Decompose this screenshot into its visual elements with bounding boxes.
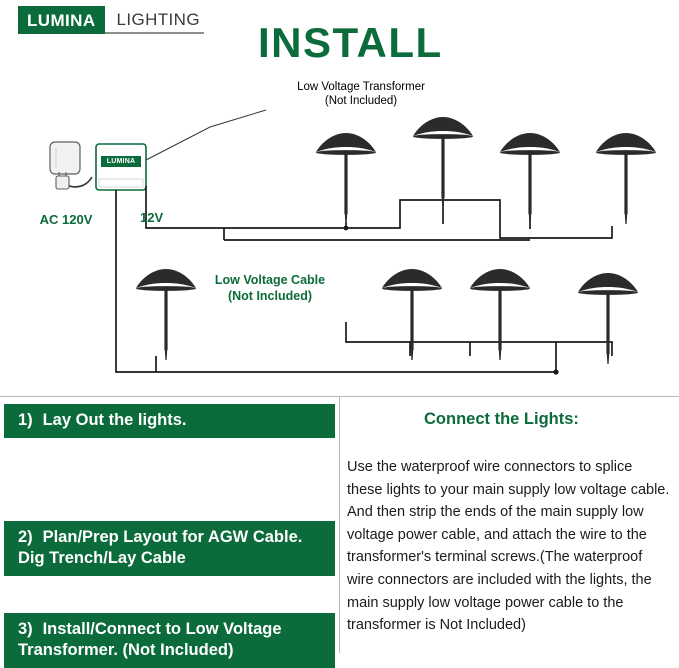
light-fixture	[413, 117, 473, 208]
step-text-1: Lay Out the lights.	[43, 411, 187, 429]
transformer-caption-line1: Low Voltage Transformer	[262, 80, 460, 94]
cable-caption-line2: (Not Included)	[180, 289, 360, 305]
step-number-1: 1)	[18, 410, 38, 431]
step-number-3: 3)	[18, 619, 38, 640]
diagram-svg	[0, 0, 679, 396]
transformer-caption: Low Voltage Transformer (Not Included)	[262, 80, 460, 109]
step-number-2: 2)	[18, 527, 38, 548]
wall-outlet-icon	[50, 142, 92, 189]
installation-diagram: LUMINA Low Voltage Transformer (Not Incl…	[0, 0, 679, 396]
light-fixture	[382, 269, 442, 360]
cable-caption-line1: Low Voltage Cable	[180, 273, 360, 289]
output-voltage-label: 12V	[140, 210, 180, 226]
light-fixture	[500, 133, 560, 224]
light-fixture	[470, 269, 530, 360]
light-fixture	[596, 133, 656, 224]
vertical-divider	[339, 396, 340, 653]
step-item-2: 2) Plan/Prep Layout for AGW Cable. Dig T…	[4, 521, 335, 576]
step-item-3: 3) Install/Connect to Low Voltage Transf…	[4, 613, 335, 668]
step-item-1: 1) Lay Out the lights.	[4, 404, 335, 438]
connect-heading: Connect the Lights:	[424, 410, 579, 429]
step-text-3: Install/Connect to Low Voltage Transform…	[18, 620, 282, 659]
transformer-caption-line2: (Not Included)	[262, 94, 460, 108]
connect-body-text: Use the waterproof wire connectors to sp…	[347, 456, 671, 637]
light-fixture	[316, 133, 376, 224]
step-text-2: Plan/Prep Layout for AGW Cable. Dig Tren…	[18, 528, 302, 567]
transformer-box-icon	[96, 144, 146, 190]
transformer-brand-label: LUMINA	[101, 156, 141, 167]
light-fixture	[578, 273, 638, 364]
wire-junction-dots	[344, 226, 559, 375]
ac-input-label: AC 120V	[16, 212, 116, 228]
cable-caption: Low Voltage Cable (Not Included)	[180, 273, 360, 304]
